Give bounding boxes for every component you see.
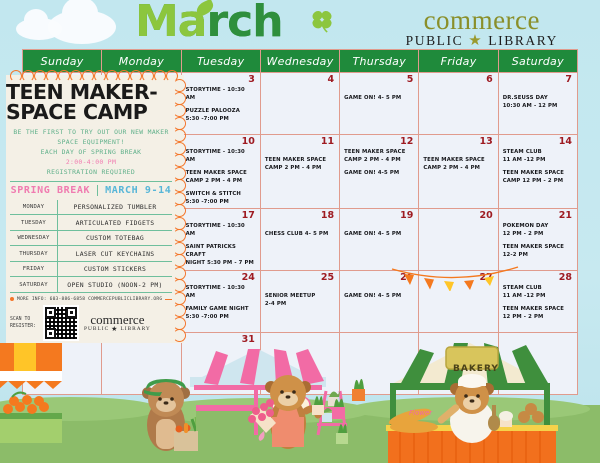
day-number: 12 (400, 136, 413, 147)
calendar-event[interactable]: TEEN MAKER SPACE CAMP 2 PM - 4 PM (344, 149, 414, 165)
day-header-monday: Monday (102, 50, 181, 72)
scallop-arc (173, 267, 186, 280)
day-number: 19 (400, 210, 413, 221)
day-header-saturday: Saturday (499, 50, 577, 72)
bullet-icon (10, 297, 14, 301)
scallop-arc (173, 192, 186, 205)
calendar-day-cell-11[interactable]: 11TEEN MAKER SPACE CAMP 2 PM - 4 PM (261, 135, 340, 209)
scallop-arc (173, 304, 186, 317)
scallop-arc (173, 167, 186, 180)
day-number: 14 (559, 136, 572, 147)
scallop-arc (173, 317, 186, 330)
star-icon: ★ (468, 34, 483, 49)
calendar-event[interactable]: PUZZLE PALOOZA 5:30 -7:00 PM (186, 108, 256, 124)
flyer-logo-name: commerce (84, 313, 151, 326)
divider (165, 299, 172, 300)
scan-to-register-label: SCAN TO REGISTER: (10, 316, 38, 330)
flyer-sub-line-1: BE THE FIRST TO TRY OUT OUR NEW MAKER (10, 128, 172, 138)
flyer-logo-sub-right: LIBRARY (120, 326, 150, 332)
event-list: STORYTIME - 10:30 AMFAMILY GAME NIGHT 5:… (186, 285, 256, 322)
spring-break-banner: SPRING BREAK MARCH 9-14 (10, 181, 172, 196)
flower-sign-label: Flower (409, 409, 432, 417)
scallop-arc (173, 104, 186, 117)
star-icon: ★ (111, 326, 118, 333)
flyer-sub-registration: REGISTRATION REQUIRED (10, 168, 172, 178)
logo-name: commerce (406, 6, 558, 34)
calendar-event[interactable]: GAME ON! 4-5 PM (344, 170, 414, 178)
scallop-arc (173, 279, 186, 292)
cloud-icon (48, 10, 116, 44)
calendar-day-cell-10[interactable]: 10STORYTIME - 10:30 AMTEEN MAKER SPACE C… (182, 135, 261, 209)
calendar-event[interactable]: DR.SEUSS DAY 10:30 AM - 12 PM (503, 95, 573, 111)
flyer-library-logo: commerce PUBLIC ★ LIBRARY (84, 313, 151, 333)
event-list: POKEMON DAY 12 PM - 2 PMTEEN MAKER SPACE… (503, 223, 573, 260)
scallop-border-right (174, 79, 184, 341)
day-header-wednesday: Wednesday (261, 50, 340, 72)
spring-break-label: SPRING BREAK (11, 185, 98, 196)
calendar-event[interactable]: TEEN MAKER SPACE CAMP 2 PM - 4 PM (186, 170, 256, 186)
schedule-row: THURSDAYLASER CUT KEYCHAINS (10, 246, 172, 262)
calendar-day-cell-24[interactable]: 24STORYTIME - 10:30 AMFAMILY GAME NIGHT … (182, 271, 261, 332)
schedule-activity: LASER CUT KEYCHAINS (58, 250, 172, 258)
scallop-arc (173, 204, 186, 217)
calendar-day-cell-12[interactable]: 12TEEN MAKER SPACE CAMP 2 PM - 4 PMGAME … (340, 135, 419, 209)
month-title-part-1: Ma (135, 0, 206, 47)
event-list: TEEN MAKER SPACE CAMP 2 PM - 4 PMGAME ON… (344, 149, 414, 178)
shamrock-icon (309, 8, 335, 34)
event-list: TEEN MAKER SPACE CAMP 2 PM - 4 PM (265, 157, 335, 173)
scallop-arc (173, 217, 186, 230)
scallop-arc (173, 179, 186, 192)
event-list: GAME ON! 4- 5 PM (344, 95, 414, 103)
schedule-activity: ARTICULATED FIDGETS (58, 219, 172, 227)
scallop-arc (173, 242, 186, 255)
day-header-sunday: Sunday (23, 50, 102, 72)
calendar-event[interactable]: SWITCH & STITCH 5:30 -7:00 PM (186, 191, 256, 207)
schedule-row: FRIDAYCUSTOM STICKERS (10, 262, 172, 278)
event-list: STORYTIME - 10:30 AMTEEN MAKER SPACE CAM… (186, 149, 256, 207)
calendar-event[interactable]: GAME ON! 4- 5 PM (344, 95, 414, 103)
flyer-logo-subtitle: PUBLIC ★ LIBRARY (84, 326, 151, 333)
scallop-arc (173, 142, 186, 155)
calendar-event[interactable]: STORYTIME - 10:30 AM (186, 87, 256, 103)
schedule-day: THURSDAY (10, 246, 58, 261)
calendar-event[interactable]: STORYTIME - 10:30 AM (186, 149, 256, 165)
event-list: GAME ON! 4- 5 PM (344, 293, 414, 301)
calendar-day-cell-5[interactable]: 5GAME ON! 4- 5 PM (340, 73, 419, 134)
schedule-day: WEDNESDAY (10, 231, 58, 246)
schedule-day: MONDAY (10, 200, 58, 215)
event-list: STEAM CLUB 11 AM -12 PMTEEN MAKER SPACE … (503, 149, 573, 186)
schedule-activity: PERSONALIZED TUMBLER (58, 203, 172, 211)
calendar-day-cell-18[interactable]: 18CHESS CLUB 4- 5 PM (261, 209, 340, 270)
schedule-activity: OPEN STUDIO (NOON-2 PM) (58, 281, 172, 289)
day-header-friday: Friday (419, 50, 498, 72)
calendar-event[interactable]: STEAM CLUB 11 AM -12 PM (503, 149, 573, 165)
calendar-day-cell-14[interactable]: 14STEAM CLUB 11 AM -12 PMTEEN MAKER SPAC… (499, 135, 577, 209)
day-number: 25 (321, 272, 334, 283)
day-number: 18 (321, 210, 334, 221)
day-number: 4 (328, 74, 335, 85)
flyer-sub-line-3: EACH DAY OF SPRING BREAK (10, 148, 172, 158)
schedule-day: FRIDAY (10, 262, 58, 277)
flyer-contact-line: MORE INFO: 603-886-6858 COMMERCEPUBLICLI… (10, 297, 172, 302)
scallop-arc (173, 229, 186, 242)
calendar-event[interactable]: STORYTIME - 10:30 AM (186, 285, 256, 301)
scallop-arc (173, 92, 186, 105)
flyer-subtitle: BE THE FIRST TO TRY OUT OUR NEW MAKER SP… (10, 128, 172, 178)
day-number: 24 (242, 272, 255, 283)
market-illustration (0, 353, 600, 463)
day-number: 20 (479, 210, 492, 221)
scallop-arc (173, 79, 186, 92)
day-number: 7 (565, 74, 572, 85)
spring-break-dates: MARCH 9-14 (98, 185, 171, 196)
event-list: CHESS CLUB 4- 5 PM (265, 231, 335, 239)
produce-stall-icon (0, 343, 62, 443)
calendar-event[interactable]: TEEN MAKER SPACE CAMP 2 PM - 4 PM (423, 157, 493, 173)
day-number: 10 (242, 136, 255, 147)
calendar-day-cell-6[interactable]: 6 (419, 73, 498, 134)
scallop-arc (173, 154, 186, 167)
calendar-event[interactable]: GAME ON! 4- 5 PM (344, 293, 414, 301)
logo-sub-right: LIBRARY (488, 33, 558, 49)
day-number: 21 (559, 210, 572, 221)
calendar-page: March commerce PUBLIC ★ LIBRARY SundayMo… (0, 0, 600, 463)
day-number: 6 (486, 74, 493, 85)
flyer-title: TEEN MAKER- SPACE CAMP (6, 83, 172, 122)
day-number: 13 (479, 136, 492, 147)
event-list: DR.SEUSS DAY 10:30 AM - 12 PM (503, 95, 573, 111)
calendar-event[interactable]: TEEN MAKER SPACE 12-2 PM (503, 244, 573, 260)
schedule-activity: CUSTOM TOTEBAG (58, 234, 172, 242)
logo-subtitle: PUBLIC ★ LIBRARY (406, 33, 558, 49)
library-logo: commerce PUBLIC ★ LIBRARY (406, 6, 558, 49)
calendar-event[interactable]: SENIOR MEETUP 2-4 PM (265, 293, 335, 309)
event-list: STORYTIME - 10:30 AMSAINT PATRICKS CRAFT… (186, 223, 256, 268)
event-list: GAME ON! 4- 5 PM (344, 231, 414, 239)
scallop-arc (173, 329, 186, 342)
contact-text: MORE INFO: 603-886-6858 COMMERCEPUBLICLI… (17, 297, 162, 302)
event-list: TEEN MAKER SPACE CAMP 2 PM - 4 PM (423, 157, 493, 173)
calendar-day-cell-3[interactable]: 3STORYTIME - 10:30 AMPUZZLE PALOOZA 5:30… (182, 73, 261, 134)
day-number: 5 (407, 74, 414, 85)
calendar-day-cell-25[interactable]: 25SENIOR MEETUP 2-4 PM (261, 271, 340, 332)
flyer-title-line-2: SPACE CAMP (6, 103, 172, 123)
schedule-activity: CUSTOM STICKERS (58, 265, 172, 273)
day-header-thursday: Thursday (340, 50, 419, 72)
day-header-tuesday: Tuesday (182, 50, 261, 72)
flyer-sub-line-2: SPACE EQUIPMENT! (10, 138, 172, 148)
calendar-event[interactable]: TEEN MAKER SPACE CAMP 12 PM - 2 PM (503, 170, 573, 186)
month-title-part-2: rch (206, 0, 282, 47)
flyer-logo-sub-left: PUBLIC (84, 326, 109, 332)
camp-schedule-table: MONDAYPERSONALIZED TUMBLERTUESDAYARTICUL… (10, 200, 172, 293)
flyer-footer: SCAN TO REGISTER: commerce PUBLIC ★ LIBR… (10, 305, 172, 341)
qr-code-icon[interactable] (43, 305, 79, 341)
scallop-arc (173, 117, 186, 130)
day-number: 28 (559, 272, 572, 283)
calendar-day-cell-20[interactable]: 20 (419, 209, 498, 270)
teen-maker-space-camp-flyer[interactable]: TEEN MAKER- SPACE CAMP BE THE FIRST TO T… (6, 75, 184, 343)
day-number: 17 (242, 210, 255, 221)
schedule-row: TUESDAYARTICULATED FIDGETS (10, 215, 172, 231)
calendar-event[interactable]: STORYTIME - 10:30 AM (186, 223, 256, 239)
schedule-row: MONDAYPERSONALIZED TUMBLER (10, 200, 172, 216)
schedule-row: SATURDAYOPEN STUDIO (NOON-2 PM) (10, 277, 172, 293)
event-list: SENIOR MEETUP 2-4 PM (265, 293, 335, 309)
calendar-event[interactable]: TEEN MAKER SPACE CAMP 2 PM - 4 PM (265, 157, 335, 173)
scallop-arc (173, 292, 186, 305)
calendar-event[interactable]: FAMILY GAME NIGHT 5:30 -7:00 PM (186, 306, 256, 322)
calendar-day-cell-4[interactable]: 4 (261, 73, 340, 134)
calendar-event[interactable]: GAME ON! 4- 5 PM (344, 231, 414, 239)
day-of-week-header-row: SundayMondayTuesdayWednesdayThursdayFrid… (23, 50, 577, 72)
calendar-event[interactable]: SAINT PATRICKS CRAFT NIGHT 5:30 PM - 7 P… (186, 244, 256, 268)
schedule-row: WEDNESDAYCUSTOM TOTEBAG (10, 231, 172, 247)
event-list: STORYTIME - 10:30 AMPUZZLE PALOOZA 5:30 … (186, 87, 256, 124)
calendar-day-cell-7[interactable]: 7DR.SEUSS DAY 10:30 AM - 12 PM (499, 73, 577, 134)
scallop-arc (173, 254, 186, 267)
calendar-day-cell-17[interactable]: 17STORYTIME - 10:30 AMSAINT PATRICKS CRA… (182, 209, 261, 270)
day-number: 11 (321, 136, 334, 147)
schedule-day: TUESDAY (10, 215, 58, 230)
bakery-sign-label: BAKERY (453, 364, 499, 374)
calendar-day-cell-13[interactable]: 13TEEN MAKER SPACE CAMP 2 PM - 4 PM (419, 135, 498, 209)
calendar-day-cell-19[interactable]: 19GAME ON! 4- 5 PM (340, 209, 419, 270)
schedule-day: SATURDAY (10, 277, 58, 292)
flyer-sub-time: 2:00-4:00 PM (10, 158, 172, 168)
scallop-arc (173, 129, 186, 142)
calendar-event[interactable]: POKEMON DAY 12 PM - 2 PM (503, 223, 573, 239)
calendar-day-cell-21[interactable]: 21POKEMON DAY 12 PM - 2 PMTEEN MAKER SPA… (499, 209, 577, 270)
calendar-event[interactable]: CHESS CLUB 4- 5 PM (265, 231, 335, 239)
day-number: 3 (248, 74, 255, 85)
calendar-event[interactable]: TEEN MAKER SPACE 12 PM - 2 PM (503, 306, 573, 322)
bunting-icon (390, 265, 520, 291)
logo-sub-left: PUBLIC (406, 33, 464, 49)
